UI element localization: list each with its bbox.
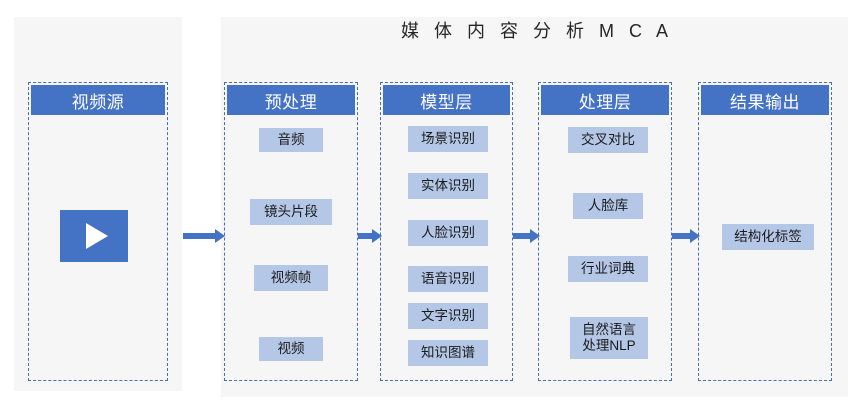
chip-face-library[interactable]: 人脸库 xyxy=(573,193,643,219)
chip-entity-recognition[interactable]: 实体识别 xyxy=(408,173,488,199)
arrow-shaft xyxy=(672,233,690,239)
arrow-shaft xyxy=(358,233,372,239)
chip-cross-comparison[interactable]: 交叉对比 xyxy=(568,127,648,153)
column-header-video-source: 视频源 xyxy=(31,85,165,115)
arrow-head xyxy=(530,229,540,243)
chip-video[interactable]: 视频 xyxy=(259,337,323,361)
arrow-head xyxy=(372,229,382,243)
page-title: 媒 体 内 容 分 析 M C A xyxy=(221,18,848,44)
chip-industry-dictionary[interactable]: 行业词典 xyxy=(568,256,648,282)
arrow-shaft xyxy=(513,233,530,239)
arrow-shaft xyxy=(183,233,215,239)
chip-nlp[interactable]: 自然语言 处理NLP xyxy=(570,317,648,359)
arrow-head xyxy=(690,229,700,243)
arrow-right-icon-2 xyxy=(358,229,382,243)
arrow-right-icon-1 xyxy=(183,229,225,243)
column-header-preprocess: 预处理 xyxy=(227,85,355,115)
play-triangle-icon xyxy=(86,223,108,249)
chip-shot-segment[interactable]: 镜头片段 xyxy=(250,199,332,225)
arrow-right-icon-3 xyxy=(513,229,540,243)
diagram-canvas: 媒 体 内 容 分 析 M C A 视频源 预处理 音频 镜头片段 视频帧 视频… xyxy=(0,0,859,411)
chip-structured-tags[interactable]: 结构化标签 xyxy=(722,224,814,250)
chip-scene-recognition[interactable]: 场景识别 xyxy=(408,126,488,152)
column-header-processing: 处理层 xyxy=(541,85,669,115)
chip-video-frame[interactable]: 视频帧 xyxy=(254,265,328,291)
chip-audio[interactable]: 音频 xyxy=(259,128,323,152)
play-button-icon[interactable] xyxy=(60,210,128,262)
chip-face-recognition[interactable]: 人脸识别 xyxy=(408,220,488,246)
chip-text-recognition[interactable]: 文字识别 xyxy=(408,303,488,329)
column-header-output: 结果输出 xyxy=(701,85,829,115)
arrow-head xyxy=(215,229,225,243)
arrow-right-icon-4 xyxy=(672,229,700,243)
column-header-model: 模型层 xyxy=(383,85,510,115)
chip-knowledge-graph[interactable]: 知识图谱 xyxy=(408,340,488,366)
chip-speech-recognition[interactable]: 语音识别 xyxy=(408,266,488,292)
